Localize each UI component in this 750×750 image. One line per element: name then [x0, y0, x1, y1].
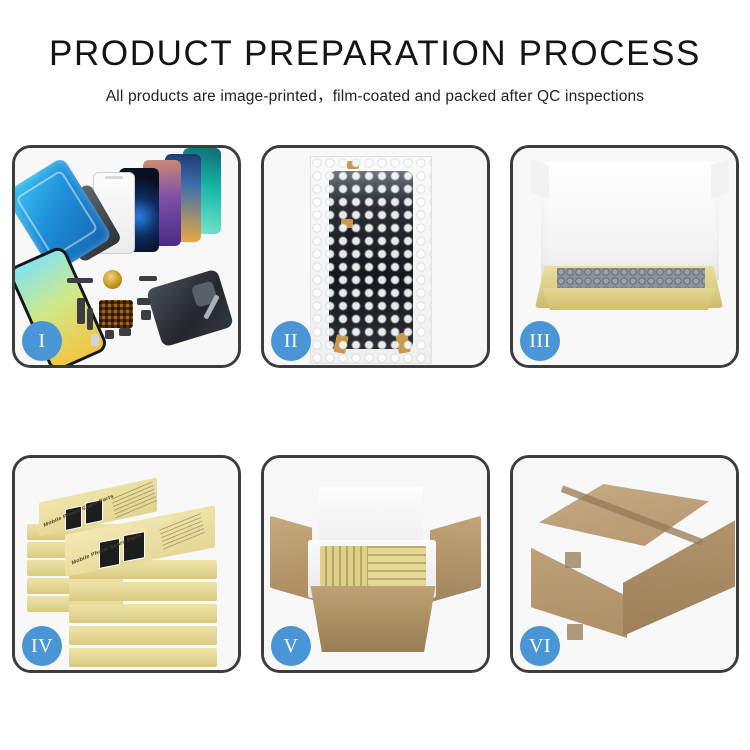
part-icon: [105, 330, 114, 339]
stacked-box: [69, 582, 217, 601]
part-icon: [137, 298, 151, 305]
box-lid-icon: [541, 162, 719, 280]
packed-boxes-icon: [368, 546, 426, 586]
process-step-panel-5[interactable]: V: [261, 455, 490, 673]
chip-grid-icon: [99, 300, 133, 328]
speaker-coil-icon: [103, 270, 122, 289]
step-badge-6: VI: [520, 626, 560, 666]
stacked-box: [69, 604, 217, 623]
part-icon: [91, 334, 99, 346]
step-badge-3: III: [520, 321, 560, 361]
bubble-bag-icon: [310, 156, 432, 364]
step-badge-2: II: [271, 321, 311, 361]
bubble-texture: [311, 157, 431, 363]
step-badge-1: I: [22, 321, 62, 361]
page-header: PRODUCT PREPARATION PROCESS All products…: [0, 0, 750, 106]
carton-side-left-icon: [531, 528, 627, 638]
stacked-box: [69, 626, 217, 645]
box-text-lines: [159, 512, 205, 549]
phone-backplate-icon: [146, 268, 234, 347]
process-step-panel-4[interactable]: Mobile Phone Spare Parts Mobile Phone Sp…: [12, 455, 241, 673]
part-icon: [119, 328, 131, 336]
page-subtitle: All products are image-printed，film-coat…: [0, 84, 750, 106]
page-title: PRODUCT PREPARATION PROCESS: [0, 36, 750, 73]
carton-tape-tab-icon: [567, 624, 583, 640]
stacked-box: [69, 648, 217, 667]
part-icon: [139, 276, 157, 281]
process-step-panel-6[interactable]: VI: [510, 455, 739, 673]
process-step-panel-3[interactable]: III: [510, 145, 739, 368]
part-icon: [67, 278, 93, 283]
step-badge-5: V: [271, 626, 311, 666]
process-step-grid: I II III: [12, 145, 738, 673]
carton-front-icon: [302, 586, 444, 652]
box-front-panel-icon: [537, 288, 721, 310]
process-step-panel-1[interactable]: I: [12, 145, 241, 368]
process-step-panel-2[interactable]: II: [261, 145, 490, 368]
box-text-lines: [111, 480, 157, 518]
part-icon: [87, 308, 93, 330]
part-icon: [77, 298, 85, 324]
step-badge-4: IV: [22, 626, 62, 666]
part-icon: [141, 310, 151, 320]
carton-tape-tab-icon: [565, 552, 581, 568]
